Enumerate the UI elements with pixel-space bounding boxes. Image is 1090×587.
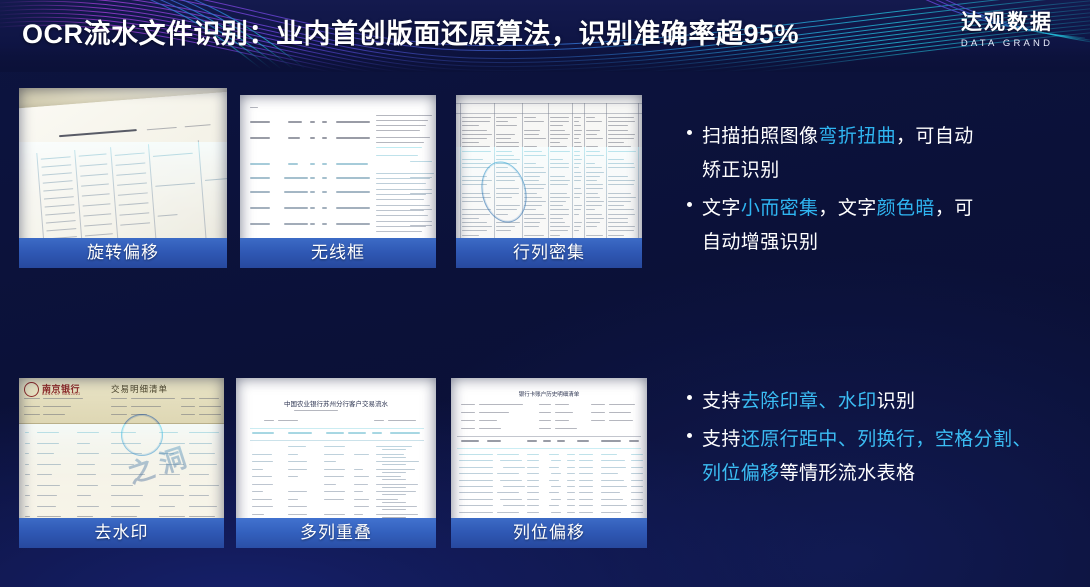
bullet-seg-plain-2: 识别: [877, 391, 916, 412]
bullet-line-2: 自动增强识别: [702, 226, 1065, 260]
card-caption-rotated-skew: 旋转偏移: [19, 238, 227, 268]
card-dense-rows[interactable]: 行列密集: [456, 95, 642, 268]
bullet-line-2: 矫正识别: [702, 154, 1065, 188]
bullet-seg-plain-2: ，文字: [818, 198, 876, 219]
bullet-list-top: 扫描拍照图像弯折扭曲，可自动 矫正识别 文字小而密集，文字颜色暗，可 自动增强识…: [685, 120, 1065, 260]
card-caption-overlapping-columns: 多列重叠: [236, 518, 436, 548]
brand-logo: 达观数据 DATA GRAND: [942, 10, 1072, 51]
card-caption-column-shift: 列位偏移: [451, 518, 647, 548]
bullet-seg-plain-3: ，可: [935, 198, 974, 219]
bullet-item-layout-restore: 支持还原行距中、列换行，空格分割、 列位偏移等情形流水表格: [685, 423, 1065, 491]
bullet-seg-plain: 扫描拍照图像: [702, 126, 818, 147]
bullet-seg-plain-2: ，可自动: [896, 126, 974, 147]
card-remove-watermark[interactable]: 南京银行 BANK OF NANJING 交易明细清单: [19, 378, 224, 548]
bullet-line-1: 支持去除印章、水印识别: [702, 385, 1065, 419]
card-overlapping-columns[interactable]: 中国农业银行苏州分行客户交易流水 多列重叠: [236, 378, 436, 548]
card-caption-remove-watermark: 去水印: [19, 518, 224, 548]
bullet-seg-plain-2: 等情形流水表格: [780, 463, 916, 484]
card-caption-dense-rows: 行列密集: [456, 238, 642, 268]
bullet-seg-highlight: 小而密集: [741, 198, 819, 219]
bullet-line-1: 支持还原行距中、列换行，空格分割、: [702, 423, 1065, 457]
card-caption-borderless-table: 无线框: [240, 238, 436, 268]
card-borderless-table[interactable]: 无线框: [240, 95, 436, 268]
logo-text-en: DATA GRAND: [942, 37, 1072, 51]
slide-root: OCR流水文件识别：业内首创版面还原算法，识别准确率超95% 达观数据 DATA…: [0, 0, 1090, 587]
bullet-item-distortion: 扫描拍照图像弯折扭曲，可自动 矫正识别: [685, 120, 1065, 188]
bullet-seg-highlight: 去除印章、水印: [741, 391, 877, 412]
bullet-line-2: 列位偏移等情形流水表格: [702, 457, 1065, 491]
bullet-seg-plain: 文字: [702, 198, 741, 219]
bullet-seg-highlight-2: 颜色暗: [877, 198, 935, 219]
bullet-item-small-dense: 文字小而密集，文字颜色暗，可 自动增强识别: [685, 192, 1065, 260]
bullet-seg-plain: 支持: [702, 391, 741, 412]
bullet-line-1: 扫描拍照图像弯折扭曲，可自动: [702, 120, 1065, 154]
bullet-seg-highlight-2: 列位偏移: [702, 463, 780, 484]
logo-text-cn: 达观数据: [942, 10, 1072, 36]
bullet-item-stamp-watermark: 支持去除印章、水印识别: [685, 385, 1065, 419]
card-rotated-skew[interactable]: 旋转偏移: [19, 88, 227, 268]
bullet-line-1: 文字小而密集，文字颜色暗，可: [702, 192, 1065, 226]
bullet-seg-highlight: 还原行距中、列换行，空格分割、: [741, 429, 1032, 450]
bullet-seg-highlight: 弯折扭曲: [818, 126, 896, 147]
bullet-seg-plain: 支持: [702, 429, 741, 450]
bullet-list-bottom: 支持去除印章、水印识别 支持还原行距中、列换行，空格分割、 列位偏移等情形流水表…: [685, 385, 1065, 491]
card-column-shift[interactable]: 银行卡账户历史明细清单: [451, 378, 647, 548]
page-title: OCR流水文件识别：业内首创版面还原算法，识别准确率超95%: [22, 16, 799, 52]
